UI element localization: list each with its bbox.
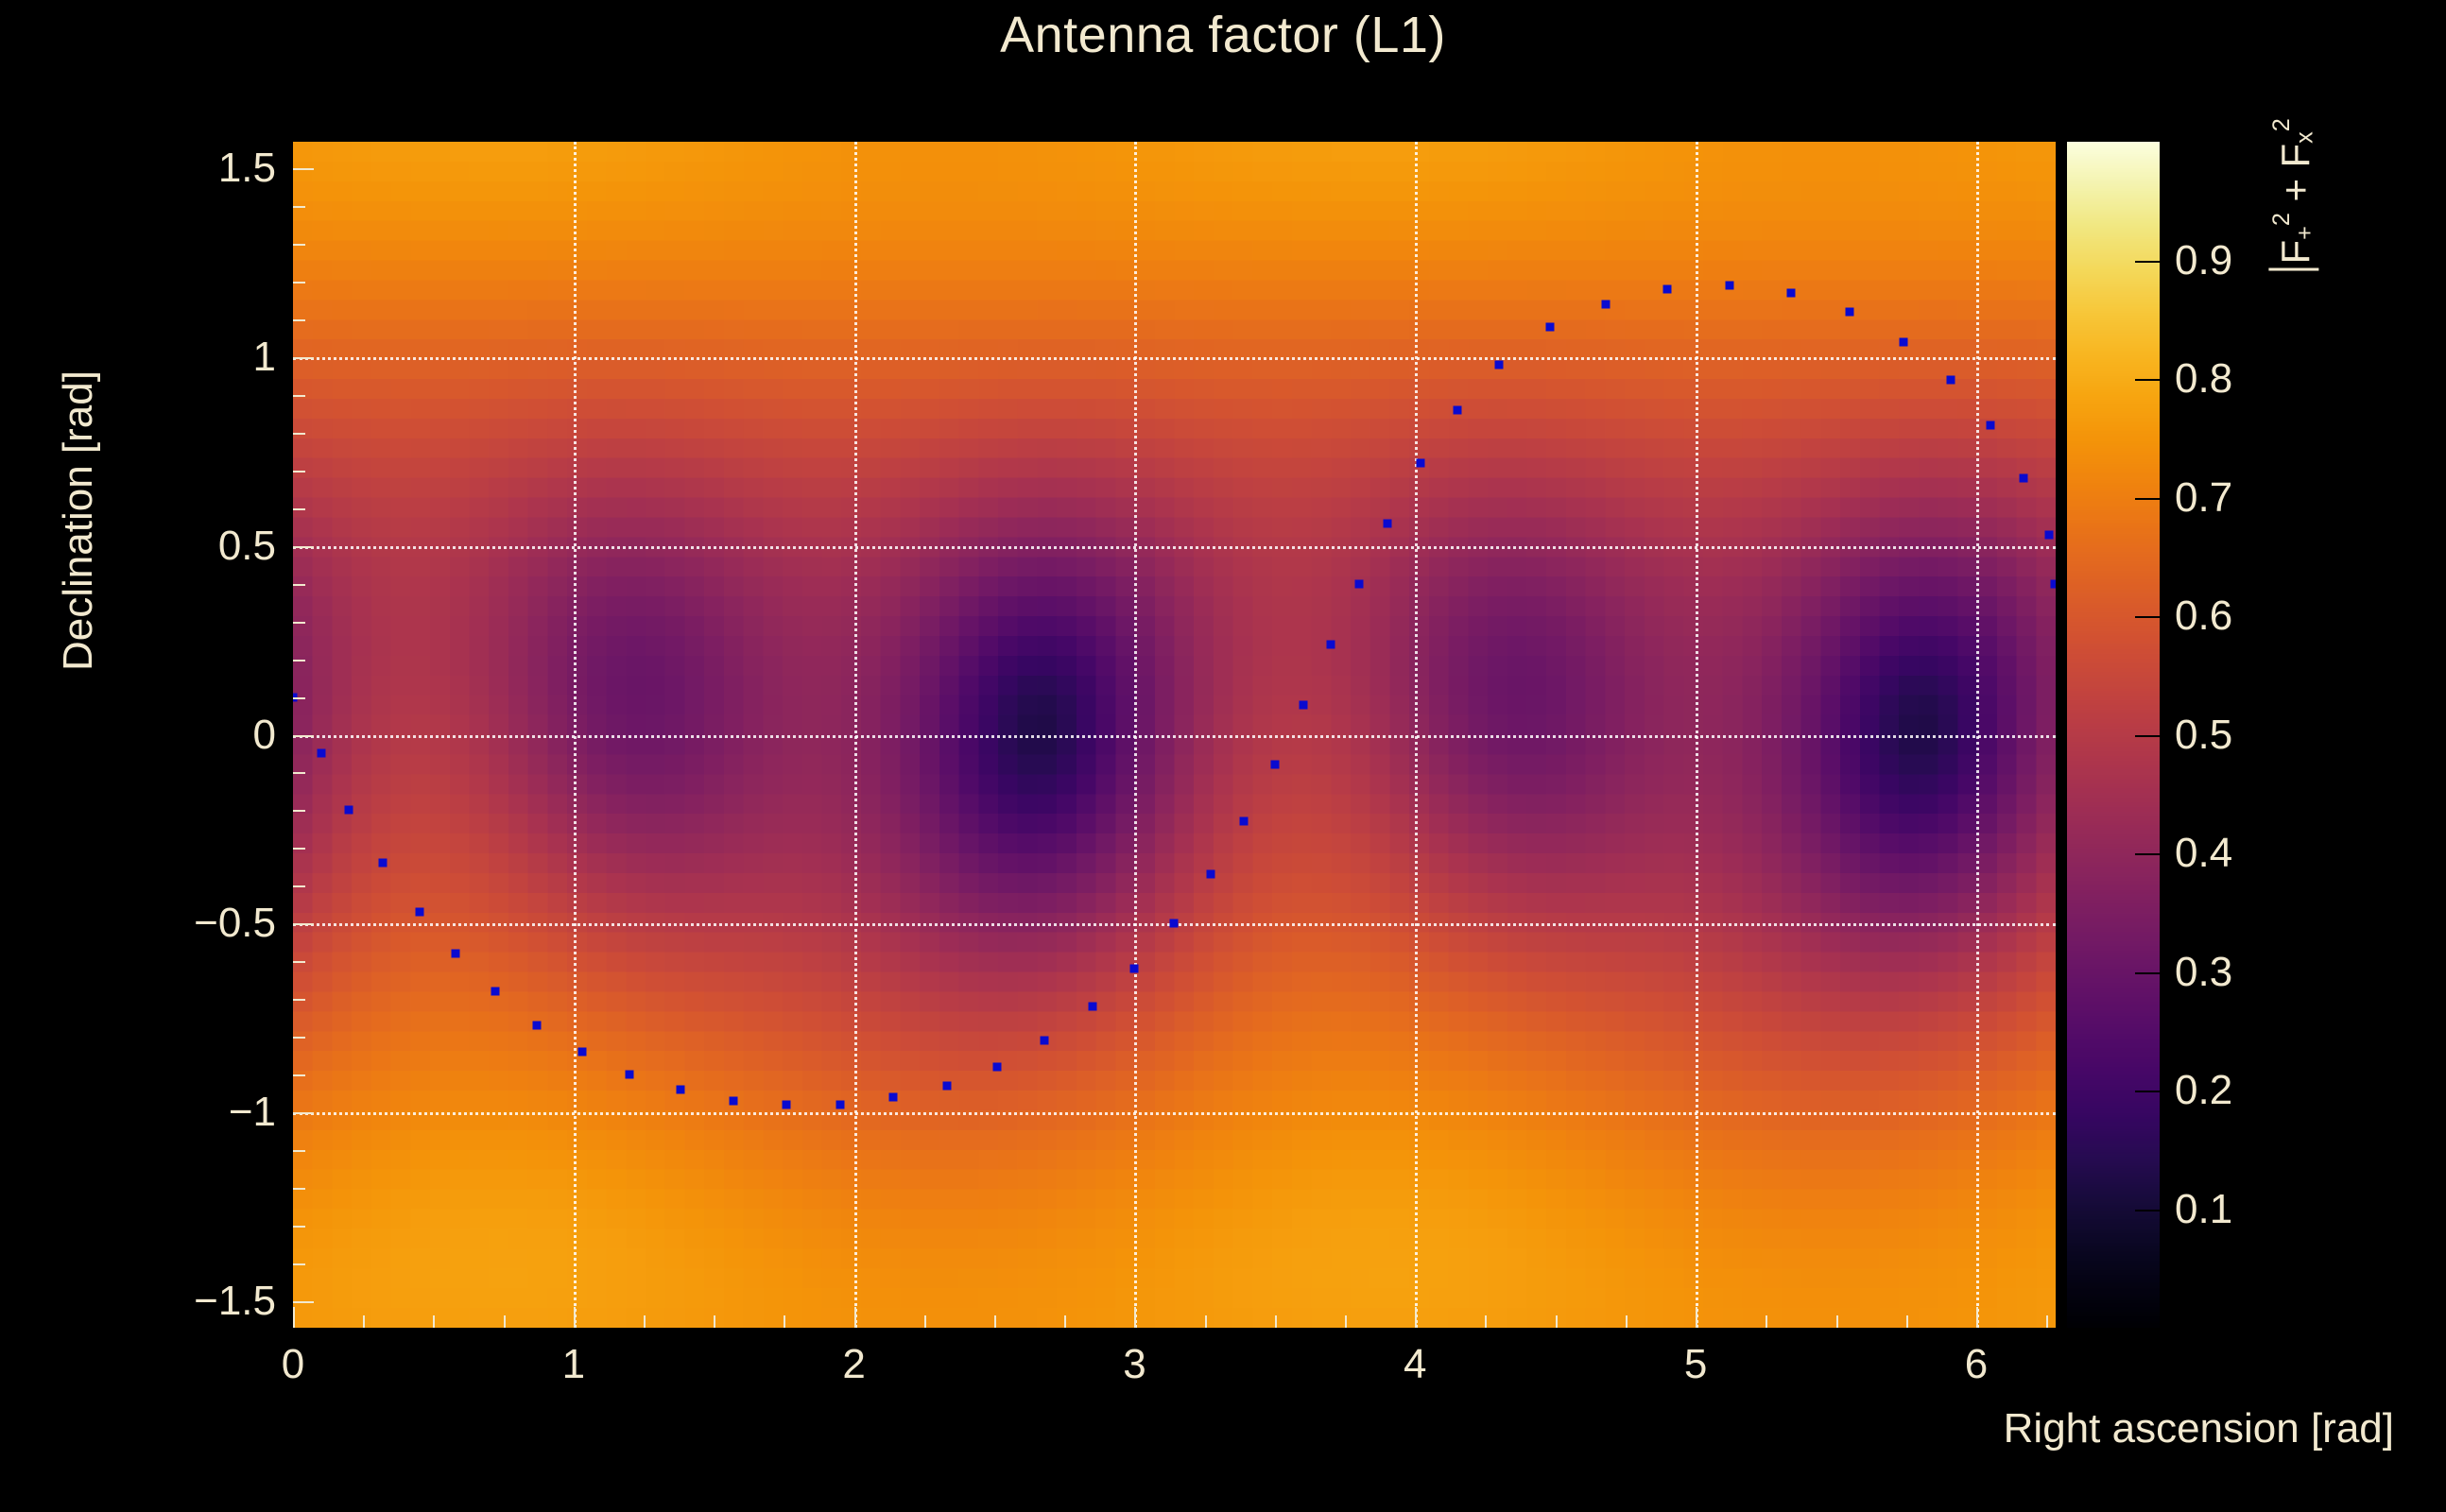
- x-tick-label: 0: [282, 1341, 304, 1388]
- y-minor-tick: [293, 395, 305, 397]
- galactic-plane-marker: [452, 950, 460, 958]
- x-minor-tick: [1205, 1315, 1207, 1328]
- galactic-plane-marker: [942, 1082, 951, 1091]
- y-minor-tick: [293, 810, 305, 812]
- y-minor-tick: [293, 1074, 305, 1076]
- galactic-plane-marker: [1041, 1037, 1049, 1045]
- galactic-plane-marker: [1986, 421, 1994, 429]
- galactic-plane-marker: [993, 1063, 1002, 1072]
- galactic-plane-marker: [1170, 919, 1179, 928]
- y-minor-tick: [293, 1226, 305, 1228]
- y-tick-label: −0.5: [194, 900, 276, 947]
- f-plus-term: F+2: [2273, 213, 2317, 264]
- y-minor-tick: [293, 471, 305, 472]
- galactic-plane-marker: [415, 908, 423, 917]
- x-minor-tick: [1836, 1315, 1838, 1328]
- y-minor-tick: [293, 206, 305, 208]
- x-minor-tick: [1064, 1315, 1066, 1328]
- colorbar-tick-label: 0.1: [2175, 1186, 2232, 1233]
- x-minor-tick: [504, 1315, 506, 1328]
- y-tick-label: −1: [229, 1089, 276, 1136]
- galactic-plane-marker: [2051, 579, 2056, 588]
- colorbar-tick-label: 0.7: [2175, 474, 2232, 522]
- colorbar-tick-label: 0.2: [2175, 1067, 2232, 1114]
- galactic-plane-marker: [533, 1022, 542, 1030]
- galactic-plane-marker: [1383, 519, 1391, 527]
- galactic-plane-marker: [676, 1086, 684, 1094]
- x-minor-tick: [1556, 1315, 1558, 1328]
- y-tick: [293, 546, 314, 548]
- y-tick-label: −1.5: [194, 1278, 276, 1325]
- galactic-plane-marker: [1327, 640, 1335, 648]
- colorbar-tick: [2135, 1091, 2160, 1092]
- y-minor-tick: [293, 1037, 305, 1039]
- y-minor-tick: [293, 1188, 305, 1190]
- y-minor-tick: [293, 772, 305, 774]
- galactic-plane-marker: [626, 1071, 634, 1079]
- x-minor-tick: [1906, 1315, 1908, 1328]
- x-minor-tick: [644, 1315, 646, 1328]
- x-tick-label: 1: [562, 1341, 585, 1388]
- galactic-plane-marker: [835, 1100, 844, 1108]
- x-minor-tick: [924, 1315, 926, 1328]
- y-minor-tick: [293, 319, 305, 321]
- colorbar-tick-label: 0.8: [2175, 355, 2232, 403]
- galactic-plane-marker: [730, 1096, 738, 1105]
- galactic-plane-marker: [2045, 530, 2054, 539]
- galactic-plane-marker: [1787, 289, 1796, 298]
- y-tick-label: 0.5: [218, 523, 276, 570]
- galactic-plane-marker: [345, 806, 353, 815]
- galactic-plane-marker: [1663, 285, 1672, 294]
- galactic-plane-marker: [1206, 870, 1214, 879]
- galactic-plane-marker: [1947, 375, 1955, 384]
- y-minor-tick: [293, 697, 305, 699]
- x-minor-tick: [433, 1315, 435, 1328]
- heatmap-image: [293, 142, 2056, 1328]
- y-axis-title: Declination [rad]: [55, 142, 102, 671]
- y-minor-tick: [293, 508, 305, 510]
- y-minor-tick: [293, 433, 305, 435]
- y-tick: [293, 1112, 314, 1114]
- galactic-plane-marker: [1846, 308, 1854, 317]
- x-tick-label: 3: [1123, 1341, 1145, 1388]
- galactic-plane-marker: [1453, 405, 1461, 414]
- sqrt-expression: F+2 + Fx2: [2268, 118, 2318, 271]
- galactic-plane-marker: [378, 859, 387, 868]
- y-tick: [293, 357, 314, 359]
- x-tick: [293, 1307, 295, 1328]
- y-tick: [293, 1301, 314, 1303]
- colorbar-tick-label: 0.4: [2175, 830, 2232, 877]
- galactic-plane-marker: [1417, 458, 1425, 467]
- colorbar-tick-label: 0.6: [2175, 593, 2232, 640]
- galactic-plane-marker: [783, 1100, 791, 1108]
- x-tick-label: 6: [1965, 1341, 1988, 1388]
- chart-root: Antenna factor (L1) 01234561.510.50−0.5−…: [0, 0, 2446, 1512]
- y-minor-tick: [293, 999, 305, 1001]
- galactic-plane-marker: [1495, 361, 1504, 369]
- galactic-plane-marker: [2020, 473, 2028, 482]
- plot-area: [293, 142, 2056, 1328]
- y-tick: [293, 735, 314, 737]
- y-tick: [293, 923, 314, 925]
- y-tick-label: 1.5: [218, 145, 276, 192]
- y-tick-label: 0: [253, 712, 276, 759]
- galactic-plane-marker: [1725, 282, 1733, 290]
- colorbar-tick: [2135, 853, 2160, 855]
- galactic-plane-marker: [577, 1048, 586, 1057]
- y-tick: [293, 168, 314, 170]
- galactic-plane-marker: [1270, 761, 1279, 769]
- galactic-plane-marker: [1130, 965, 1139, 973]
- galactic-plane-marker: [1088, 1003, 1096, 1011]
- x-tick: [854, 1307, 856, 1328]
- x-tick: [1696, 1307, 1697, 1328]
- colorbar-tick: [2135, 498, 2160, 500]
- plus-operator: +: [2273, 167, 2317, 201]
- galactic-plane-marker: [889, 1092, 898, 1101]
- colorbar-tick: [2135, 1210, 2160, 1211]
- x-tick: [574, 1307, 576, 1328]
- y-minor-tick: [293, 282, 305, 283]
- x-minor-tick: [1626, 1315, 1628, 1328]
- galactic-plane-marker: [1299, 700, 1307, 709]
- y-minor-tick: [293, 622, 305, 624]
- colorbar-tick: [2135, 379, 2160, 381]
- y-minor-tick: [293, 1263, 305, 1265]
- galactic-plane-marker: [1602, 301, 1611, 309]
- galactic-plane-marker: [1899, 338, 1907, 347]
- y-minor-tick: [293, 1150, 305, 1152]
- x-minor-tick: [2046, 1315, 2048, 1328]
- colorbar-tick-label: 0.3: [2175, 949, 2232, 996]
- x-minor-tick: [1275, 1315, 1277, 1328]
- y-minor-tick: [293, 660, 305, 661]
- page-title: Antenna factor (L1): [0, 6, 2446, 64]
- f-cross-term: Fx2: [2273, 118, 2317, 167]
- x-tick: [1976, 1307, 1978, 1328]
- colorbar-tick: [2135, 261, 2160, 263]
- x-minor-tick: [714, 1315, 715, 1328]
- galactic-plane-marker: [491, 988, 499, 996]
- y-minor-tick: [293, 885, 305, 887]
- colorbar-tick-label: 0.9: [2175, 237, 2232, 284]
- x-tick: [1415, 1307, 1417, 1328]
- x-minor-tick: [363, 1315, 365, 1328]
- x-tick: [1134, 1307, 1136, 1328]
- colorbar-title: F+2 + Fx2: [2268, 118, 2318, 271]
- y-minor-tick: [293, 961, 305, 963]
- colorbar-tick-label: 0.5: [2175, 712, 2232, 759]
- x-tick-label: 5: [1684, 1341, 1707, 1388]
- colorbar-tick: [2135, 735, 2160, 737]
- x-minor-tick: [1766, 1315, 1767, 1328]
- x-minor-tick: [1345, 1315, 1347, 1328]
- x-tick-label: 2: [842, 1341, 865, 1388]
- colorbar-tick: [2135, 616, 2160, 618]
- y-minor-tick: [293, 848, 305, 850]
- x-minor-tick: [784, 1315, 785, 1328]
- y-minor-tick: [293, 244, 305, 246]
- x-tick-label: 4: [1404, 1341, 1426, 1388]
- y-tick-label: 1: [253, 334, 276, 381]
- y-minor-tick: [293, 584, 305, 586]
- galactic-plane-marker: [1354, 579, 1363, 588]
- x-minor-tick: [994, 1315, 996, 1328]
- galactic-plane-marker: [1240, 817, 1249, 826]
- x-minor-tick: [1485, 1315, 1487, 1328]
- galactic-plane-marker: [1545, 323, 1554, 332]
- galactic-plane-marker: [317, 749, 325, 758]
- x-axis-title: Right ascension [rad]: [2004, 1405, 2394, 1452]
- colorbar-tick: [2135, 972, 2160, 974]
